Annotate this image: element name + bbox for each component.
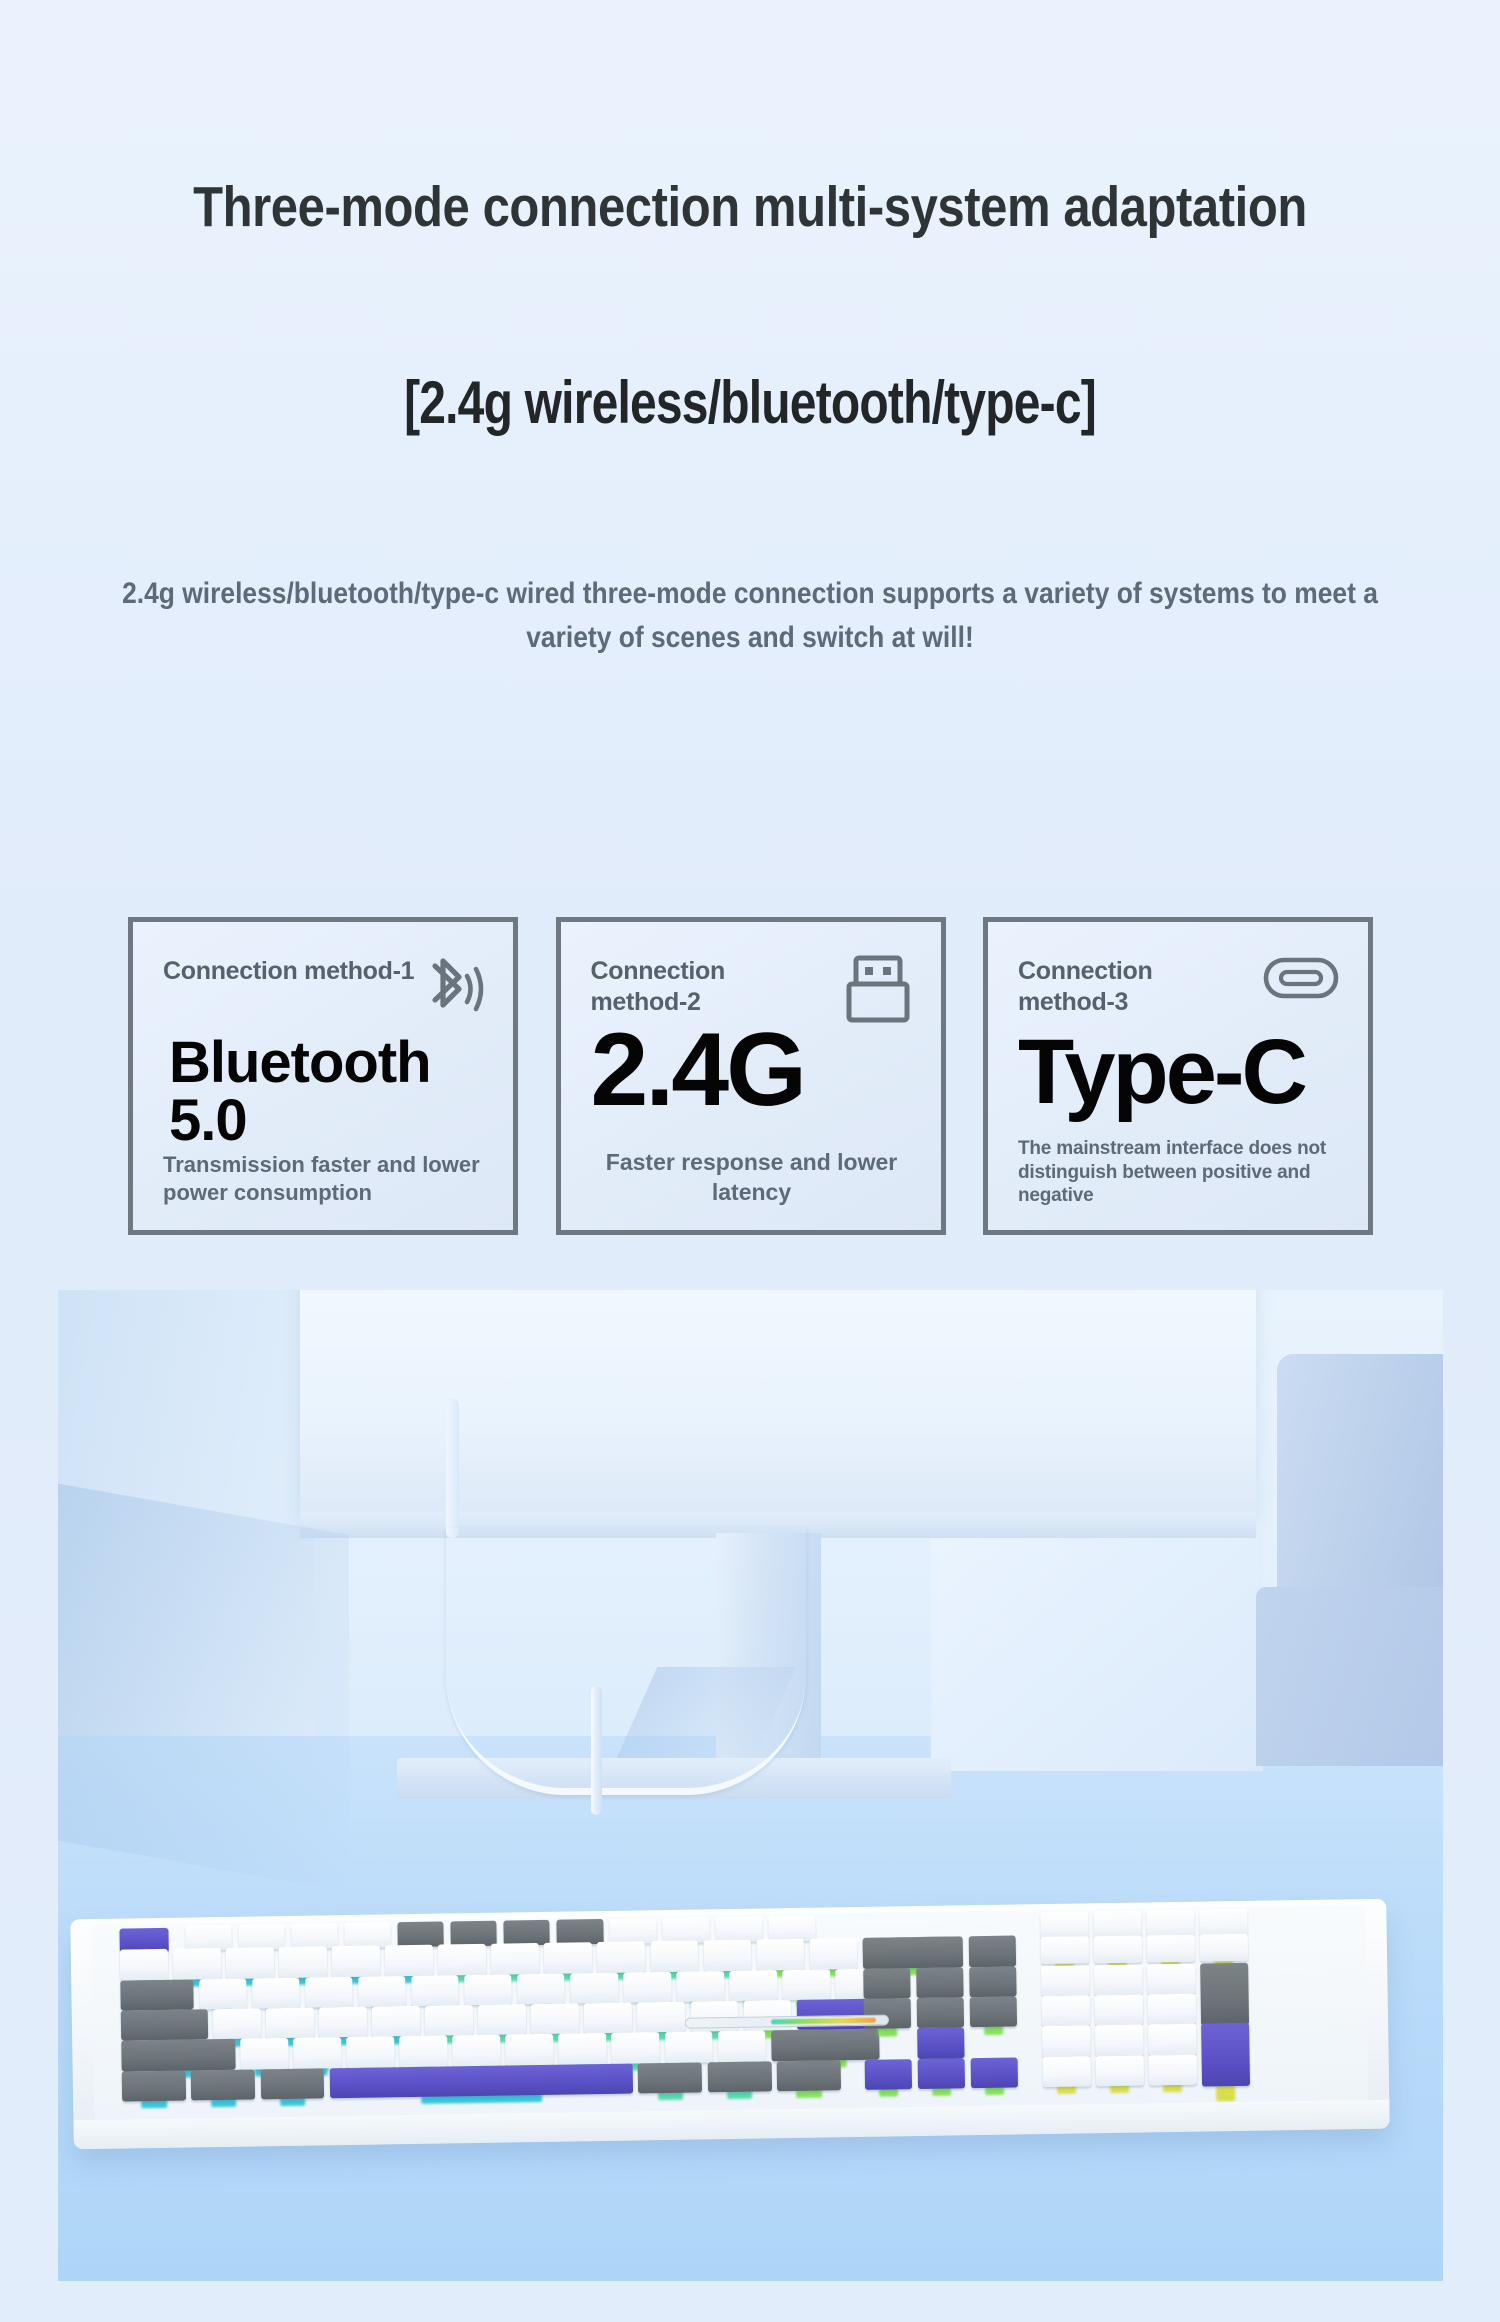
- card-kicker-label: Connection method-1: [163, 956, 414, 987]
- keycap: [531, 2004, 579, 2035]
- keycap: [411, 1975, 459, 2006]
- keycap: [1147, 1964, 1195, 1995]
- secondary-monitor-base: [1256, 1587, 1443, 1765]
- keycap: [1199, 1909, 1247, 1937]
- keycap: [173, 1949, 221, 1980]
- keycap: [638, 2063, 702, 2094]
- keycap: [637, 2002, 685, 2033]
- keycap: [968, 1936, 1016, 1967]
- keycap: [863, 1968, 911, 1999]
- keycap: [1040, 1937, 1088, 1965]
- keycap: [332, 1946, 380, 1977]
- keycap: [305, 1977, 353, 2008]
- keycap: [191, 2070, 255, 2101]
- keycap: [611, 2033, 659, 2064]
- desk-shadow-left: [58, 1481, 349, 1891]
- keycap: [1147, 1935, 1195, 1963]
- card-kicker-label: Connection method-2: [591, 956, 726, 1017]
- mechanical-keyboard: [70, 1899, 1389, 2148]
- secondary-monitor: [1277, 1354, 1443, 1622]
- type-c-port-icon: [1262, 952, 1340, 1009]
- keycap: [1095, 2025, 1143, 2056]
- keycap: [226, 1948, 274, 1979]
- keycap: [1040, 1911, 1088, 1939]
- usb-cable-lower: [591, 1686, 602, 1815]
- page-subheadline: [2.4g wireless/bluetooth/type-c]: [150, 370, 1350, 436]
- keycap: [120, 1979, 194, 2011]
- keycap: [266, 2008, 314, 2039]
- keycap: [438, 1944, 486, 1975]
- keycap: [252, 1978, 300, 2009]
- keycap: [664, 2032, 712, 2063]
- keycap: [1093, 1936, 1141, 1964]
- product-detail-page: Three-mode connection multi-system adapt…: [0, 0, 1500, 2322]
- keycap: [623, 1972, 671, 2003]
- keyboard-keycap-rows: [91, 1905, 1368, 2121]
- keycap: [544, 1943, 592, 1974]
- keycap: [1146, 1910, 1194, 1938]
- keycap: [319, 2007, 367, 2038]
- keycap: [776, 2060, 840, 2091]
- monitor-screen: [300, 1290, 1256, 1518]
- connection-card-bluetooth: Connection method-1 Bluetooth 5.0 Transm…: [128, 917, 518, 1235]
- keycap: [122, 2071, 186, 2102]
- card-note: Transmission faster and lower power cons…: [163, 1151, 485, 1208]
- keycap: [707, 2061, 771, 2092]
- keycap: [293, 2038, 341, 2069]
- keycap: [570, 1973, 618, 2004]
- keyboard-rgb-indicator: [771, 2018, 876, 2024]
- keycap: [1093, 1911, 1141, 1939]
- connection-method-cards: Connection method-1 Bluetooth 5.0 Transm…: [128, 917, 1373, 1235]
- keycap: [279, 1947, 327, 1978]
- monitor-right-panel: [931, 1533, 1263, 1771]
- keycap: [676, 1971, 724, 2002]
- keycap: [916, 1967, 964, 1998]
- card-note: Faster response and lower latency: [591, 1148, 913, 1208]
- card-title: 2.4G: [591, 1018, 913, 1122]
- keycap: [120, 1949, 168, 1980]
- keycap: [558, 2034, 606, 2065]
- keycap: [1200, 1934, 1248, 1962]
- keycap: [703, 1940, 751, 1971]
- product-photo: [58, 1290, 1443, 2281]
- keycap: [782, 1969, 830, 2000]
- card-header: Connection method-1: [163, 956, 485, 1032]
- keycap: [597, 1942, 645, 1973]
- keycap: [346, 2037, 394, 2068]
- keycap: [650, 1941, 698, 1972]
- keycap: [1094, 1964, 1142, 1995]
- card-title: Bluetooth 5.0: [163, 1034, 485, 1150]
- connection-card-typec: Connection method-3 Type-C The mainstrea…: [983, 917, 1373, 1235]
- keycap: [917, 2058, 965, 2089]
- bluetooth-icon: [419, 952, 485, 1031]
- keycap: [756, 1939, 804, 1970]
- page-headline: Three-mode connection multi-system adapt…: [105, 175, 1395, 239]
- keycap: [916, 1998, 964, 2029]
- keycap: [425, 2005, 473, 2036]
- keycap: [584, 2003, 632, 2034]
- usb-cable-loop: [446, 1528, 806, 1796]
- keycap: [399, 2036, 447, 2067]
- keycap: [809, 1939, 857, 1970]
- keycap: [1147, 1994, 1195, 2025]
- keycap: [358, 1976, 406, 2007]
- keycap: [864, 2059, 912, 2090]
- keycap: [1041, 1965, 1089, 1996]
- keycap: [969, 1997, 1017, 2028]
- keycap: [452, 2035, 500, 2066]
- keycap: [1095, 2056, 1143, 2087]
- keycap: [1042, 2056, 1090, 2087]
- keycap: [1042, 2026, 1090, 2057]
- keycap: [517, 1974, 565, 2005]
- keycap: [970, 2058, 1018, 2089]
- keycap: [1200, 1963, 1249, 2026]
- keycap: [969, 1966, 1017, 1997]
- keyboard-keycap-tray: [91, 1905, 1368, 2121]
- card-note: The mainstream interface does not distin…: [1018, 1137, 1340, 1208]
- keycap: [199, 1979, 247, 2010]
- keycap: [1094, 1995, 1142, 2026]
- keycap: [491, 1944, 539, 1975]
- keycap: [1148, 2024, 1196, 2055]
- keycap: [915, 1937, 963, 1968]
- keycap: [213, 2009, 261, 2040]
- keycap: [372, 2006, 420, 2037]
- keycap: [718, 2031, 766, 2062]
- page-description: 2.4g wireless/bluetooth/type-c wired thr…: [90, 572, 1410, 660]
- keycap: [1148, 2055, 1196, 2086]
- keycap: [329, 2064, 633, 2099]
- keycap: [478, 2005, 526, 2036]
- keycap: [917, 2028, 965, 2059]
- keycap: [464, 1974, 512, 2005]
- keycap: [771, 2029, 880, 2061]
- keycap: [1041, 1996, 1089, 2027]
- keycap: [240, 2039, 288, 2070]
- keycap: [729, 1970, 777, 2001]
- keycap: [1201, 2024, 1250, 2087]
- card-title: Type-C: [1018, 1026, 1340, 1118]
- card-kicker-label: Connection method-3: [1018, 956, 1153, 1017]
- keycap: [505, 2034, 553, 2065]
- keycap: [385, 1945, 433, 1976]
- keycap: [260, 2068, 324, 2099]
- keycap: [121, 2010, 208, 2042]
- keycap: [862, 1938, 910, 1969]
- connection-card-24g: Connection method-2 2.4G Faster response…: [556, 917, 946, 1235]
- usb-cable-upper: [446, 1399, 459, 1538]
- keycap: [121, 2039, 235, 2071]
